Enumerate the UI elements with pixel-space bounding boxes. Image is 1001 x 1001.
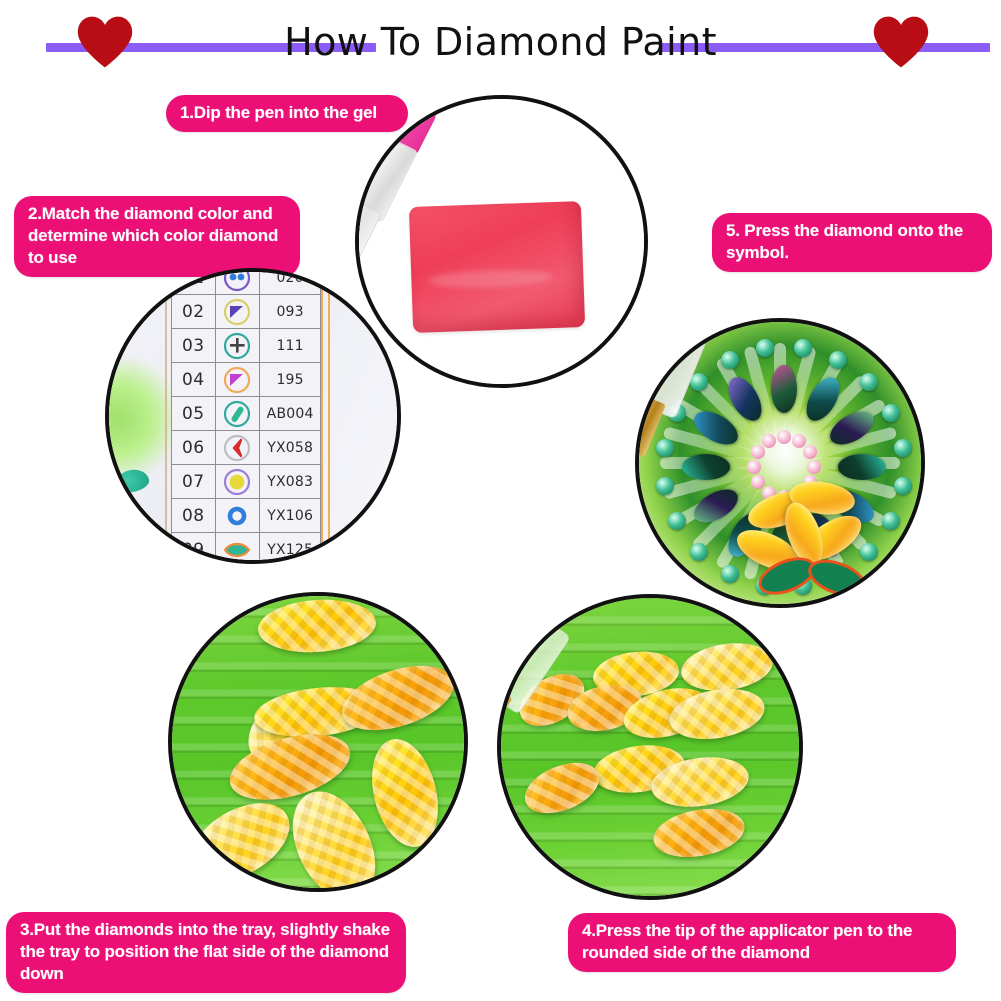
chart-row-number: 05 bbox=[172, 397, 216, 431]
mandala-gem bbox=[771, 365, 797, 413]
table-row: 03111 bbox=[172, 329, 321, 363]
chart-row-number: 02 bbox=[172, 295, 216, 329]
mandala-gem bbox=[882, 404, 900, 422]
chart-row-code: 020 bbox=[260, 268, 321, 295]
mandala-gem bbox=[860, 543, 878, 561]
chart-margin-line bbox=[165, 272, 167, 560]
mandala-gem bbox=[751, 475, 765, 489]
mandala-gem bbox=[762, 434, 776, 448]
step-1-photo bbox=[355, 95, 648, 388]
step-5-photo bbox=[635, 318, 925, 608]
header: How To Diamond Paint bbox=[0, 0, 1001, 86]
plus-cross-icon bbox=[215, 329, 260, 363]
chart-row-number: 07 bbox=[172, 465, 216, 499]
chart-margin-line bbox=[321, 272, 323, 560]
mandala-gem bbox=[803, 445, 817, 459]
chart-margin-line bbox=[328, 272, 330, 560]
step-4-label: 4.Press the tip of the applicator pen to… bbox=[568, 913, 956, 972]
chart-row-number: 06 bbox=[172, 431, 216, 465]
table-row: 01020 bbox=[172, 268, 321, 295]
table-row: 07YX083 bbox=[172, 465, 321, 499]
chart-row-code: 195 bbox=[260, 363, 321, 397]
chart-row-code: YX106 bbox=[260, 499, 321, 533]
step-2-photo: 0102002093031110419505AB00406YX05807YX08… bbox=[105, 268, 401, 564]
open-ring-icon bbox=[215, 499, 260, 533]
mandala-gem bbox=[690, 543, 708, 561]
filled-triangle-icon bbox=[215, 363, 260, 397]
chart-row-code: YX125 bbox=[260, 533, 321, 565]
table-row: 08YX106 bbox=[172, 499, 321, 533]
table-row: 06YX058 bbox=[172, 431, 321, 465]
step-3-label: 3.Put the diamonds into the tray, slight… bbox=[6, 912, 406, 993]
chart-row-number: 08 bbox=[172, 499, 216, 533]
filled-triangle-icon bbox=[215, 295, 260, 329]
chart-row-number: 09 bbox=[172, 533, 216, 565]
step-3-photo bbox=[168, 592, 468, 892]
chart-row-code: YX058 bbox=[260, 431, 321, 465]
double-dot-circle-icon bbox=[215, 268, 260, 295]
chart-row-code: 093 bbox=[260, 295, 321, 329]
gel-pad bbox=[409, 201, 585, 333]
left-arrow-icon bbox=[215, 431, 260, 465]
canvas-glow bbox=[105, 353, 178, 485]
chart-row-code: AB004 bbox=[260, 397, 321, 431]
filled-dot-icon bbox=[215, 465, 260, 499]
mandala-gem bbox=[721, 565, 739, 583]
pen-tip bbox=[635, 397, 666, 458]
step-2-label: 2.Match the diamond color and determine … bbox=[14, 196, 300, 277]
step-5-label: 5. Press the diamond onto the symbol. bbox=[712, 213, 992, 272]
mandala-gem bbox=[747, 460, 761, 474]
mandala-gem bbox=[807, 460, 821, 474]
mandala-gem bbox=[838, 454, 886, 480]
table-row: 04195 bbox=[172, 363, 321, 397]
chart-row-number: 03 bbox=[172, 329, 216, 363]
mandala-gem bbox=[894, 439, 912, 457]
pen-tip bbox=[355, 230, 356, 276]
mandala-gem bbox=[860, 373, 878, 391]
table-row: 09 YX125 bbox=[172, 533, 321, 565]
table-row: 05AB004 bbox=[172, 397, 321, 431]
mandala-gem bbox=[777, 430, 791, 444]
mandala-gem bbox=[751, 445, 765, 459]
table-row: 02093 bbox=[172, 295, 321, 329]
slash-bar-icon bbox=[215, 397, 260, 431]
page-title: How To Diamond Paint bbox=[0, 12, 1001, 72]
mandala-gem bbox=[721, 351, 739, 369]
mandala-gem bbox=[792, 434, 806, 448]
infographic-canvas: How To Diamond Paint 1.Dip the pen into … bbox=[0, 0, 1001, 1001]
chart-row-code: YX083 bbox=[260, 465, 321, 499]
leaf-marquise-icon bbox=[215, 533, 260, 565]
chart-row-number: 04 bbox=[172, 363, 216, 397]
step-4-photo bbox=[497, 594, 803, 900]
chart-row-number: 01 bbox=[172, 268, 216, 295]
mandala-gem bbox=[682, 454, 730, 480]
diamond-color-chart-table: 0102002093031110419505AB00406YX05807YX08… bbox=[171, 268, 321, 564]
chart-row-code: 111 bbox=[260, 329, 321, 363]
mandala-gem bbox=[894, 477, 912, 495]
